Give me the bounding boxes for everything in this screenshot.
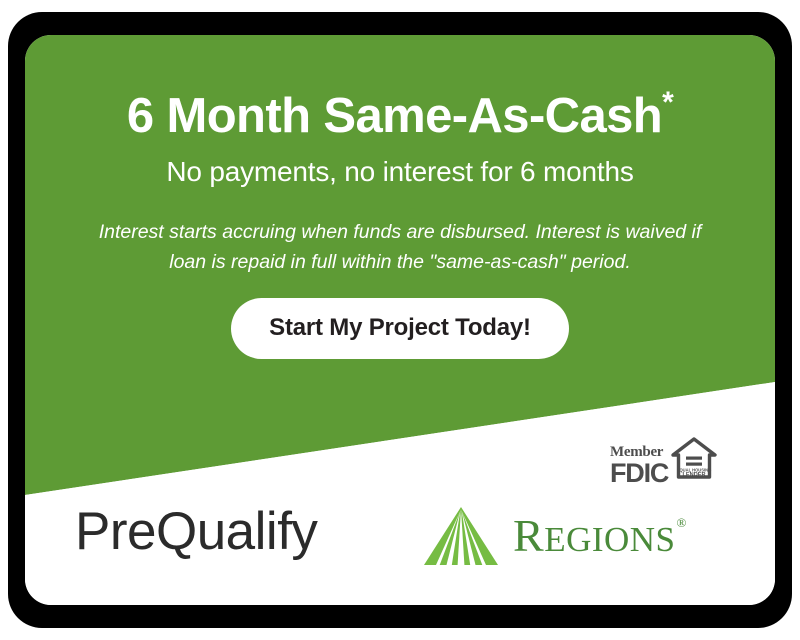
- regions-wordmark-rest: EGIONS: [544, 520, 675, 559]
- start-my-project-button[interactable]: Start My Project Today!: [231, 298, 569, 359]
- page-title: 6 Month Same-As-Cash*: [25, 87, 775, 142]
- regions-wordmark-initial: R: [513, 510, 544, 561]
- fdic-ehl-mark: Member FDIC EQUAL HOUSING LENDER: [610, 431, 745, 487]
- headline-block: 6 Month Same-As-Cash* No payments, no in…: [25, 87, 775, 277]
- regions-wordmark: REGIONS®: [513, 513, 687, 559]
- cta-container: Start My Project Today!: [25, 298, 775, 359]
- regions-logo: REGIONS®: [423, 505, 687, 567]
- disclaimer-text: Interest starts accruing when funds are …: [25, 218, 775, 277]
- regions-pyramid-icon: [423, 505, 499, 567]
- headline-text: 6 Month Same-As-Cash: [127, 89, 662, 143]
- subheadline: No payments, no interest for 6 months: [25, 156, 775, 188]
- promo-card: 6 Month Same-As-Cash* No payments, no in…: [25, 35, 775, 605]
- fdic-label: FDIC: [610, 461, 668, 487]
- equal-housing-lender-house-icon: EQUAL HOUSING LENDER: [671, 436, 717, 487]
- fdic-text-group: Member FDIC: [610, 445, 668, 487]
- svg-text:LENDER: LENDER: [683, 472, 706, 478]
- promo-card-frame: 6 Month Same-As-Cash* No payments, no in…: [0, 0, 800, 640]
- prequalify-label: PreQualify: [75, 505, 317, 558]
- registered-trademark-icon: ®: [677, 515, 687, 530]
- footnote-asterisk: *: [662, 86, 673, 119]
